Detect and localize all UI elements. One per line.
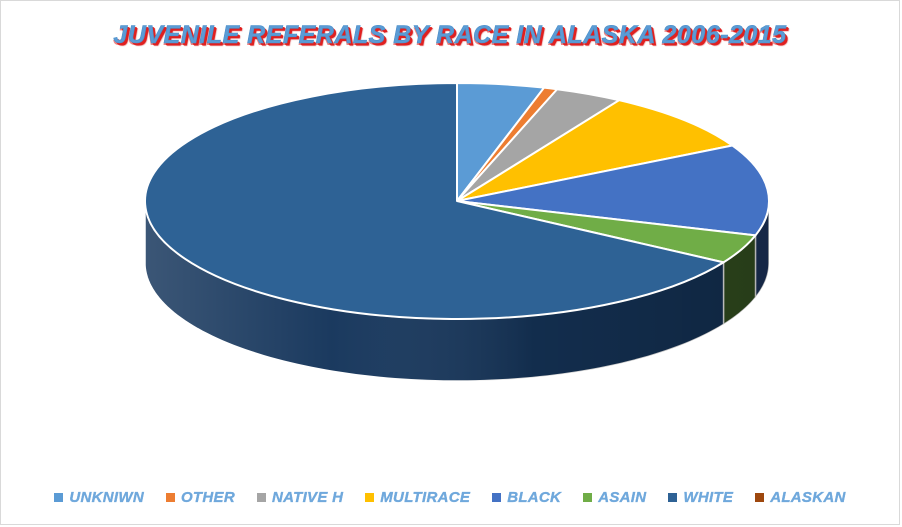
chart-legend: UNKNIWNOTHERNATIVE HMULTIRACEBLACKASAINW…	[1, 489, 899, 506]
legend-item-label: UNKNIWN	[69, 489, 144, 506]
legend-item-label: BLACK	[507, 489, 561, 506]
legend-swatch-icon	[492, 493, 501, 502]
legend-swatch-icon	[668, 493, 677, 502]
legend-item-label: MULTIRACE	[380, 489, 470, 506]
legend-item-label: OTHER	[181, 489, 235, 506]
legend-item[interactable]: ASAIN	[583, 489, 646, 506]
legend-swatch-icon	[365, 493, 374, 502]
legend-item[interactable]: OTHER	[166, 489, 235, 506]
legend-item-label: ASAIN	[598, 489, 646, 506]
chart-title: JUVENILE REFERALS BY RACE IN ALASKA 2006…	[1, 21, 899, 50]
chart-canvas: JUVENILE REFERALS BY RACE IN ALASKA 2006…	[0, 0, 900, 525]
legend-item[interactable]: UNKNIWN	[54, 489, 144, 506]
legend-item[interactable]: BLACK	[492, 489, 561, 506]
legend-swatch-icon	[166, 493, 175, 502]
legend-swatch-icon	[257, 493, 266, 502]
pie-chart-svg	[1, 56, 900, 466]
legend-swatch-icon	[583, 493, 592, 502]
pie-chart-plot-area	[1, 56, 900, 466]
legend-swatch-icon	[54, 493, 63, 502]
legend-swatch-icon	[755, 493, 764, 502]
pie-top-surface	[145, 83, 769, 319]
legend-item-label: ALASKAN	[770, 489, 845, 506]
legend-item[interactable]: WHITE	[668, 489, 733, 506]
legend-item[interactable]: NATIVE H	[257, 489, 343, 506]
legend-item[interactable]: ALASKAN	[755, 489, 845, 506]
legend-item-label: NATIVE H	[272, 489, 343, 506]
legend-item[interactable]: MULTIRACE	[365, 489, 470, 506]
legend-item-label: WHITE	[683, 489, 733, 506]
